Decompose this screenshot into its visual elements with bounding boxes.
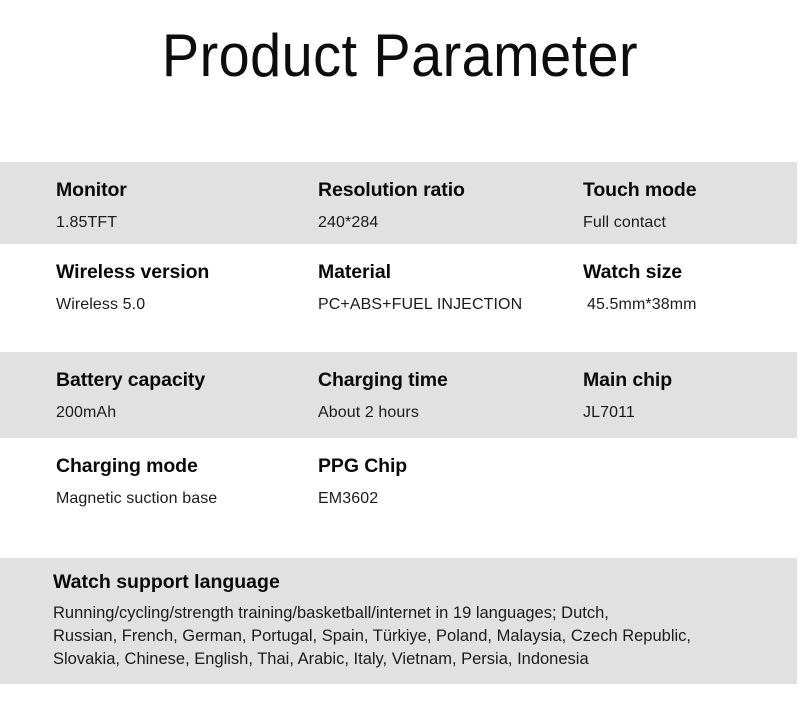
spec-value: EM3602 bbox=[318, 490, 407, 508]
spec-label: Wireless version bbox=[56, 262, 209, 283]
spec-label: Charging mode bbox=[56, 456, 217, 477]
language-line: Running/cycling/strength training/basket… bbox=[53, 602, 789, 625]
spec-label: Main chip bbox=[583, 370, 672, 391]
spec-label: Touch mode bbox=[583, 180, 696, 201]
spec-label: PPG Chip bbox=[318, 456, 407, 477]
spec-value: Magnetic suction base bbox=[56, 490, 217, 508]
spec-value: 200mAh bbox=[56, 404, 205, 422]
spec-label: Watch size bbox=[583, 262, 697, 283]
spec-cell-charging-mode: Charging mode Magnetic suction base bbox=[56, 456, 217, 508]
spec-value: JL7011 bbox=[583, 404, 672, 422]
spec-cell-ppg-chip: PPG Chip EM3602 bbox=[318, 456, 407, 508]
spec-label: Battery capacity bbox=[56, 370, 205, 391]
spec-cell-watch-size: Watch size 45.5mm*38mm bbox=[583, 262, 697, 314]
spec-cell-main-chip: Main chip JL7011 bbox=[583, 370, 672, 422]
spec-cell-charging-time: Charging time About 2 hours bbox=[318, 370, 448, 422]
spec-row-4: Charging mode Magnetic suction base PPG … bbox=[0, 438, 797, 544]
spec-row-3: Battery capacity 200mAh Charging time Ab… bbox=[0, 352, 797, 438]
spec-row-1: Monitor 1.85TFT Resolution ratio 240*284… bbox=[0, 162, 797, 244]
spec-label: Material bbox=[318, 262, 522, 283]
spec-cell-touch-mode: Touch mode Full contact bbox=[583, 180, 696, 232]
spec-cell-monitor: Monitor 1.85TFT bbox=[56, 180, 127, 232]
language-line: Slovakia, Chinese, English, Thai, Arabic… bbox=[53, 648, 789, 671]
watch-support-language-section: Watch support language Running/cycling/s… bbox=[0, 558, 797, 684]
spec-label: Charging time bbox=[318, 370, 448, 391]
spec-label: Resolution ratio bbox=[318, 180, 465, 201]
spec-value: 45.5mm*38mm bbox=[583, 296, 697, 314]
spec-value: Full contact bbox=[583, 214, 696, 232]
spec-cell-material: Material PC+ABS+FUEL INJECTION bbox=[318, 262, 522, 314]
spec-row-2: Wireless version Wireless 5.0 Material P… bbox=[0, 244, 797, 352]
spec-cell-wireless-version: Wireless version Wireless 5.0 bbox=[56, 262, 209, 314]
spec-cell-battery-capacity: Battery capacity 200mAh bbox=[56, 370, 205, 422]
language-section-body: Running/cycling/strength training/basket… bbox=[53, 602, 789, 671]
spec-value: PC+ABS+FUEL INJECTION bbox=[318, 296, 522, 314]
spec-label: Monitor bbox=[56, 180, 127, 201]
spec-cell-resolution-ratio: Resolution ratio 240*284 bbox=[318, 180, 465, 232]
page-title: Product Parameter bbox=[28, 26, 772, 86]
spec-value: Wireless 5.0 bbox=[56, 296, 209, 314]
spec-value: About 2 hours bbox=[318, 404, 448, 422]
language-section-title: Watch support language bbox=[53, 572, 280, 593]
spec-value: 240*284 bbox=[318, 214, 465, 232]
spec-value: 1.85TFT bbox=[56, 214, 127, 232]
language-line: Russian, French, German, Portugal, Spain… bbox=[53, 625, 789, 648]
